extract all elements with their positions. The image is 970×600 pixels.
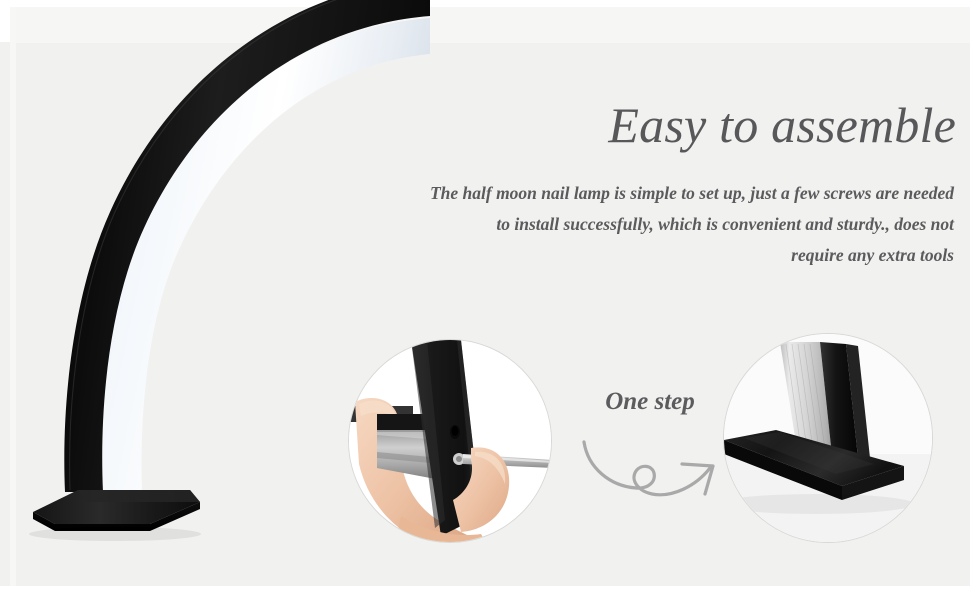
one-step-label: One step xyxy=(580,386,720,418)
description-line-3: require any extra tools xyxy=(294,240,954,271)
description-line-2: to install successfully, which is conven… xyxy=(294,209,954,240)
inset-assembled-base-photo xyxy=(723,333,933,543)
lamp-base-plate xyxy=(33,490,200,531)
assembled-lamp-base-photo xyxy=(724,334,933,543)
page-title: Easy to assemble xyxy=(336,96,956,154)
curly-arrow-right-icon xyxy=(578,424,724,502)
base-shadow xyxy=(29,527,201,541)
product-feature-poster: Easy to assemble The half moon nail lamp… xyxy=(0,0,970,600)
inset-assembly-photo xyxy=(348,339,552,543)
description-paragraph: The half moon nail lamp is simple to set… xyxy=(294,178,954,271)
description-line-1: The half moon nail lamp is simple to set… xyxy=(294,178,954,209)
panel-bottom-gutter xyxy=(0,586,970,600)
hands-screwdriver-assembly-photo xyxy=(349,340,552,543)
